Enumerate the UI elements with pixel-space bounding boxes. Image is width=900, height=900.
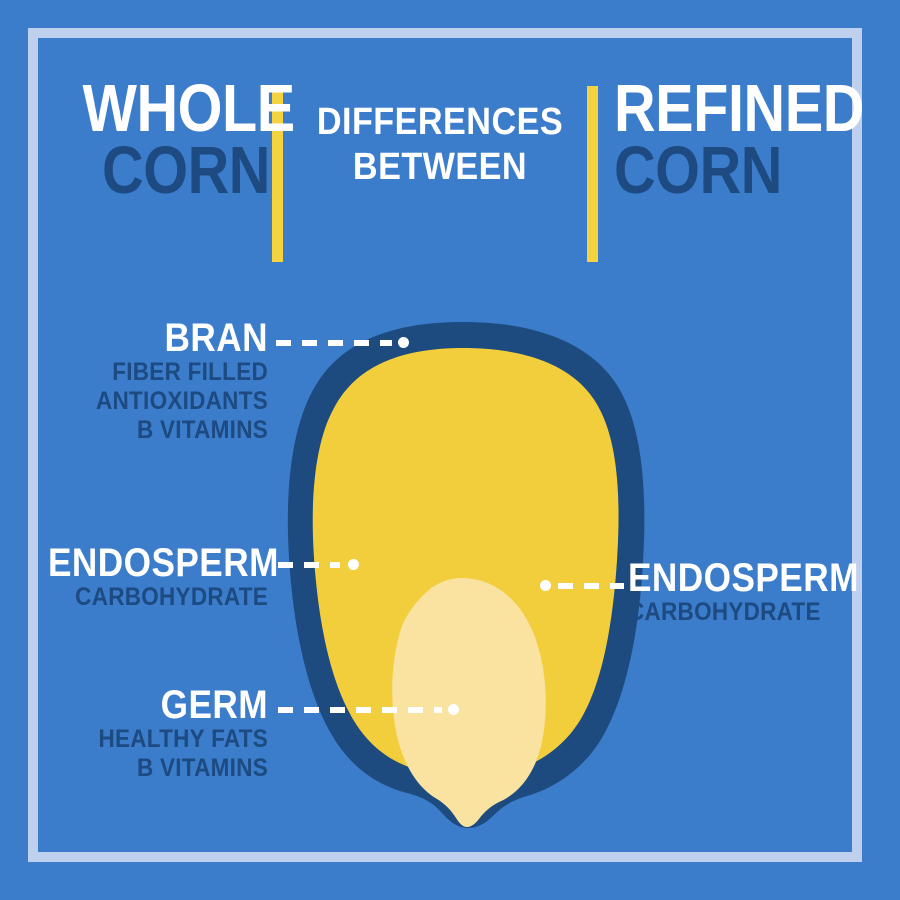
callout-endosperm-left-title: ENDOSPERM xyxy=(48,543,268,583)
corn-kernel-diagram xyxy=(255,300,675,840)
leader-dot-endosperm-right xyxy=(540,580,551,591)
header-middle-spacer xyxy=(300,78,580,100)
callout-bran-line-2: ANTIOXIDANTS xyxy=(52,387,268,416)
callout-endosperm-right-title: ENDOSPERM xyxy=(628,558,848,598)
leader-dot-endosperm-left xyxy=(348,559,359,570)
leader-dashes-endosperm-left xyxy=(278,562,340,568)
header-left-title-group: WHOLE CORN xyxy=(52,78,270,273)
callout-bran-line-1: FIBER FILLED xyxy=(52,358,268,387)
header-differences-text: DIFFERENCES xyxy=(314,100,566,145)
callout-endosperm-right-line-1: CARBOHYDRATE xyxy=(628,598,853,627)
callout-germ-line-2: B VITAMINS xyxy=(52,754,268,783)
callout-endosperm-left: ENDOSPERM CARBOHYDRATE xyxy=(18,543,268,612)
header-between-text: BETWEEN xyxy=(314,145,566,190)
callout-bran: BRAN FIBER FILLED ANTIOXIDANTS B VITAMIN… xyxy=(28,318,268,445)
leader-dashes-germ xyxy=(278,707,442,713)
leader-line-bran xyxy=(276,338,416,347)
header-right-corn-text: CORN xyxy=(614,140,810,202)
header-right-title-group: REFINED CORN xyxy=(614,78,842,273)
poster-header: WHOLE CORN DIFFERENCES BETWEEN REFINED C… xyxy=(0,78,900,273)
callout-germ-title: GERM xyxy=(57,685,268,725)
leader-line-germ xyxy=(278,705,468,714)
header-divider-bar-right xyxy=(587,86,598,262)
leader-dot-germ xyxy=(448,704,459,715)
callout-endosperm-right: ENDOSPERM CARBOHYDRATE xyxy=(628,558,878,627)
header-left-corn-text: CORN xyxy=(83,140,270,202)
corn-kernel-svg xyxy=(255,300,675,840)
leader-dashes-bran xyxy=(276,340,392,346)
header-middle-title-group: DIFFERENCES BETWEEN xyxy=(300,78,580,273)
leader-line-endosperm-left xyxy=(278,560,370,569)
corn-infographic-poster: WHOLE CORN DIFFERENCES BETWEEN REFINED C… xyxy=(0,0,900,900)
callout-bran-line-3: B VITAMINS xyxy=(52,416,268,445)
leader-line-endosperm-right xyxy=(540,581,624,590)
callout-bran-title: BRAN xyxy=(57,318,268,358)
callout-germ-line-1: HEALTHY FATS xyxy=(52,725,268,754)
leader-dot-bran xyxy=(398,337,409,348)
header-whole-text: WHOLE xyxy=(83,78,270,140)
header-refined-text: REFINED xyxy=(614,78,810,140)
callout-germ: GERM HEALTHY FATS B VITAMINS xyxy=(28,685,268,783)
leader-dashes-endosperm-right xyxy=(558,583,624,589)
callout-endosperm-left-line-1: CARBOHYDRATE xyxy=(43,583,268,612)
